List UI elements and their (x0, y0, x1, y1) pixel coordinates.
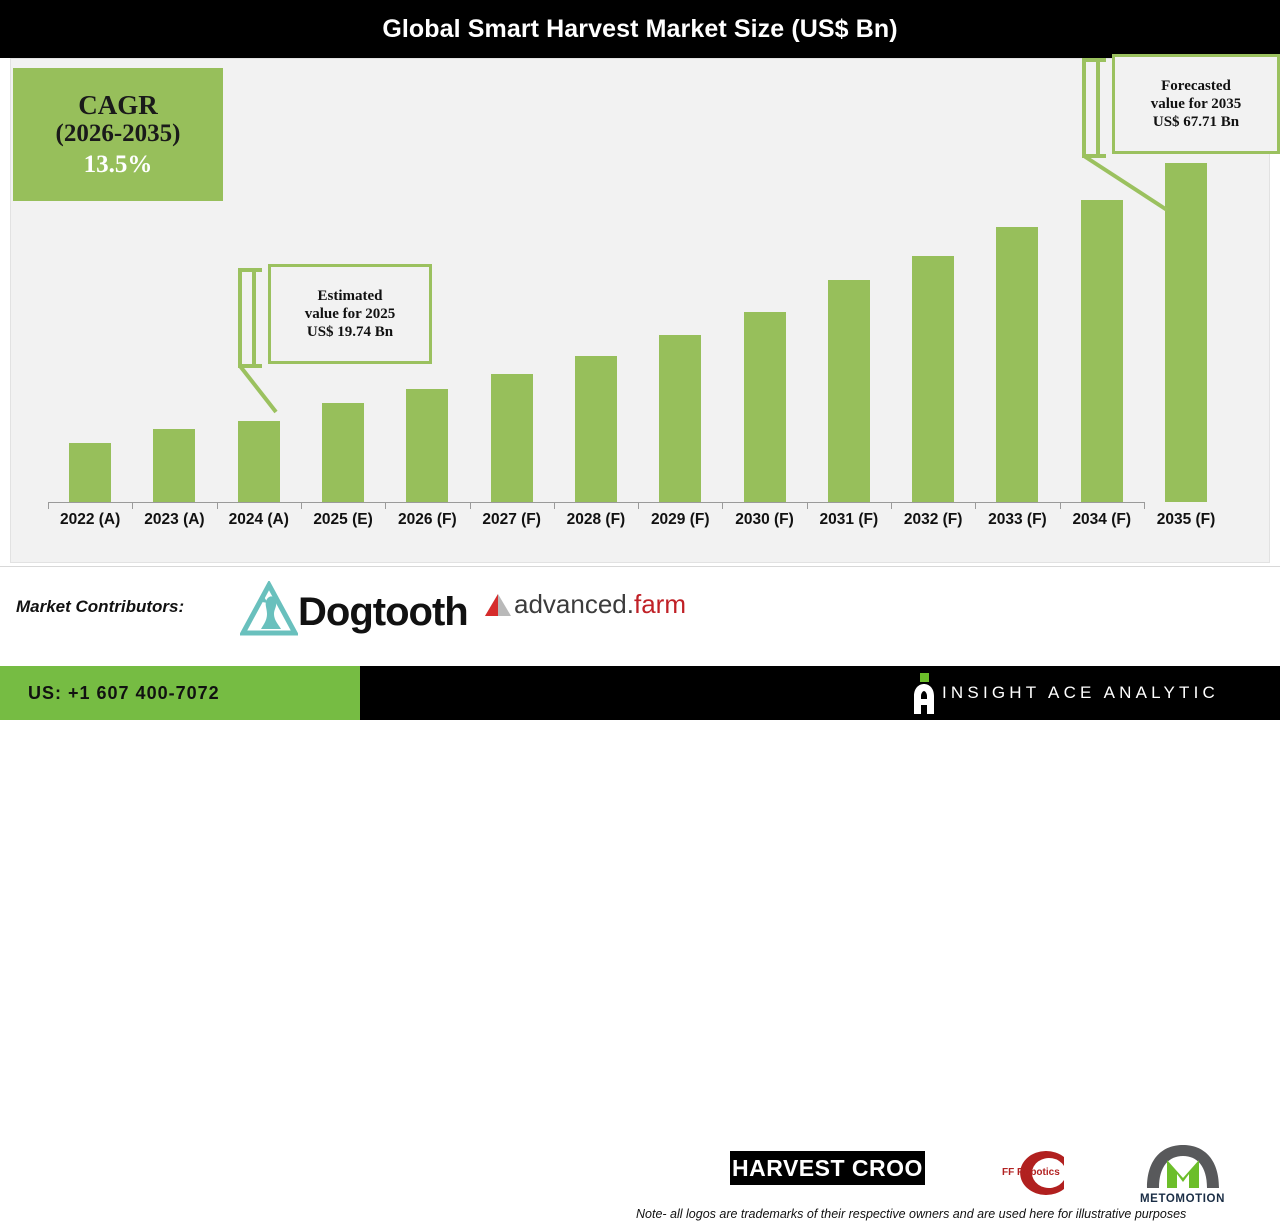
x-axis-tick (132, 502, 133, 509)
callout-2035-line3: US$ 67.71 Bn (1153, 113, 1239, 131)
x-axis-tick (385, 502, 386, 509)
x-axis-tick (470, 502, 471, 509)
x-label-2025: 2025 (E) (301, 511, 385, 529)
x-axis-tick (891, 502, 892, 509)
cagr-period: (2026-2035) (56, 120, 181, 148)
footer-phone-bar: US: +1 607 400-7072 (0, 666, 360, 720)
callout-2025-box: Estimated value for 2025 US$ 19.74 Bn (268, 264, 432, 364)
trademark-note: Note- all logos are trademarks of their … (636, 1207, 1276, 1221)
cagr-badge: CAGR (2026-2035) 13.5% (13, 68, 223, 201)
market-contributors-strip: Market Contributors: Dogtooth advanced.f… (0, 566, 1280, 667)
advanced-farm-triangle-icon (484, 591, 514, 619)
x-axis-tick (301, 502, 302, 509)
footer-brand: INSIGHT ACE ANALYTIC (900, 666, 1219, 720)
logo-dogtooth: Dogtooth (240, 581, 468, 643)
x-label-2031: 2031 (F) (807, 511, 891, 529)
dogtooth-triangle-icon (240, 581, 298, 643)
ff-robotics-wordmark: FF Robotics (1002, 1167, 1060, 1178)
logo-advanced-farm: advanced.farm (484, 589, 686, 620)
x-axis-labels: 2022 (A)2023 (A)2024 (A)2025 (E)2026 (F)… (11, 511, 1271, 541)
infographic-page: Global Smart Harvest Market Size (US$ Bn… (0, 0, 1280, 720)
x-axis-tick (48, 502, 49, 509)
x-label-2034: 2034 (F) (1060, 511, 1144, 529)
x-label-2022: 2022 (A) (48, 511, 132, 529)
x-label-2029: 2029 (F) (638, 511, 722, 529)
x-label-2028: 2028 (F) (554, 511, 638, 529)
bar-2027[interactable] (491, 374, 533, 502)
metomotion-arch-icon (1141, 1142, 1225, 1190)
bar-2033[interactable] (996, 227, 1038, 502)
callout-2035-line2: value for 2035 (1151, 95, 1242, 113)
x-axis-tick (1060, 502, 1061, 509)
advanced-farm-wordmark-dark: advanced. (514, 589, 634, 619)
callout-2025-line1: Estimated (318, 287, 383, 305)
advanced-farm-wordmark: advanced.farm (514, 589, 686, 620)
metomotion-wordmark: METOMOTION (1140, 1193, 1225, 1205)
page-title: Global Smart Harvest Market Size (US$ Bn… (382, 15, 897, 44)
harvest-croo-wordmark: HARVEST CROO (732, 1155, 923, 1182)
callout-2035-line1: Forecasted (1161, 77, 1231, 95)
x-axis-tick (638, 502, 639, 509)
bar-2031[interactable] (828, 280, 870, 502)
cagr-title: CAGR (78, 90, 158, 120)
contributors-label: Market Contributors: (16, 597, 184, 617)
callout-2025-line3: US$ 19.74 Bn (307, 323, 393, 341)
footer-phone[interactable]: US: +1 607 400-7072 (28, 683, 220, 704)
callout-2035-box: Forecasted value for 2035 US$ 67.71 Bn (1112, 54, 1280, 154)
bar-2022[interactable] (69, 443, 111, 502)
bar-2032[interactable] (912, 256, 954, 502)
x-axis-tick (975, 502, 976, 509)
x-axis-tick (807, 502, 808, 509)
callout-2025-line2: value for 2025 (305, 305, 396, 323)
bar-2028[interactable] (575, 356, 617, 502)
title-bar: Global Smart Harvest Market Size (US$ Bn… (0, 0, 1280, 58)
logo-metomotion: METOMOTION (1140, 1142, 1225, 1205)
callout-forecasted-2035: Forecasted value for 2035 US$ 67.71 Bn (1075, 52, 1280, 227)
logo-harvest-croo: HARVEST CROO (730, 1151, 925, 1185)
x-label-2035: 2035 (F) (1144, 511, 1228, 529)
x-axis-tick (554, 502, 555, 509)
x-label-2033: 2033 (F) (975, 511, 1059, 529)
callout-estimated-2025: Estimated value for 2025 US$ 19.74 Bn (232, 262, 432, 452)
x-label-2030: 2030 (F) (722, 511, 806, 529)
bar-2029[interactable] (659, 335, 701, 502)
x-label-2026: 2026 (F) (385, 511, 469, 529)
x-label-2032: 2032 (F) (891, 511, 975, 529)
x-label-2024: 2024 (A) (217, 511, 301, 529)
x-axis-tick (217, 502, 218, 509)
x-axis-tick (1144, 502, 1145, 509)
brand-name: INSIGHT ACE ANALYTIC (942, 683, 1219, 703)
x-label-2027: 2027 (F) (470, 511, 554, 529)
advanced-farm-wordmark-accent: farm (634, 589, 686, 619)
footer-bar: US: +1 607 400-7072 INSIGHT ACE ANALYTIC (0, 666, 1280, 720)
x-axis-tick (722, 502, 723, 509)
x-label-2023: 2023 (A) (132, 511, 216, 529)
cagr-value: 13.5% (84, 151, 153, 179)
logo-ff-robotics: FF Robotics (990, 1145, 1082, 1201)
insight-ace-logo-icon (900, 672, 944, 716)
bar-2023[interactable] (153, 429, 195, 502)
bar-2034[interactable] (1081, 200, 1123, 502)
x-axis-line (48, 502, 1145, 503)
bar-2030[interactable] (744, 312, 786, 502)
dogtooth-wordmark: Dogtooth (298, 590, 468, 635)
